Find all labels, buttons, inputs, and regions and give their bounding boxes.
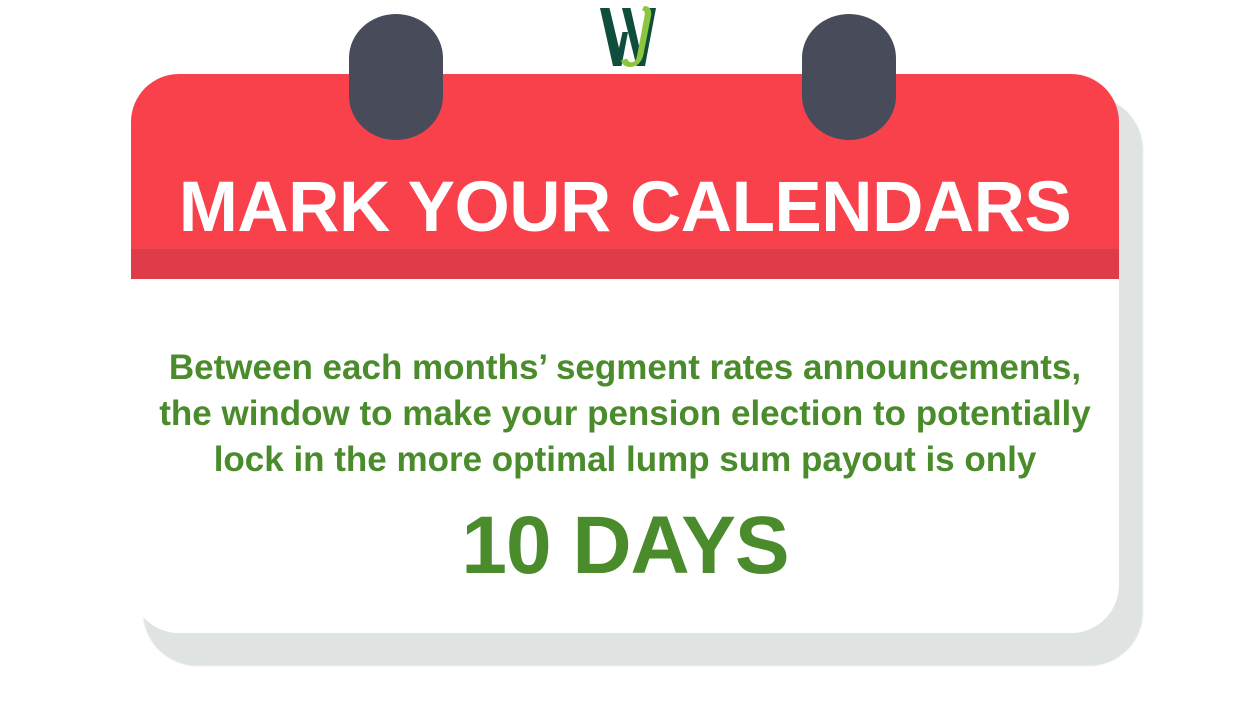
body-copy: Between each months’ segment rates annou… [145, 345, 1105, 483]
header-accent-band [131, 249, 1119, 279]
body-copy-line-3: lock in the more optimal lump sum payout… [145, 437, 1105, 483]
page-title: MARK YOUR CALENDARS [131, 172, 1119, 243]
body-copy-line-1: Between each months’ segment rates annou… [145, 345, 1105, 391]
logo-svg [592, 2, 668, 72]
body-copy-line-2: the window to make your pension election… [145, 391, 1105, 437]
binder-ring-left [349, 14, 443, 140]
binder-ring-right [802, 14, 896, 140]
logo-w-left-stroke [600, 8, 628, 66]
highlight-days-count: 10 DAYS [145, 505, 1105, 587]
wsj-monogram-logo [592, 2, 668, 72]
infographic-canvas: MARK YOUR CALENDARS Between each months’… [0, 0, 1250, 703]
calendar-header: MARK YOUR CALENDARS [131, 74, 1119, 279]
calendar-body: Between each months’ segment rates annou… [131, 279, 1119, 633]
calendar-card: MARK YOUR CALENDARS Between each months’… [131, 74, 1119, 633]
